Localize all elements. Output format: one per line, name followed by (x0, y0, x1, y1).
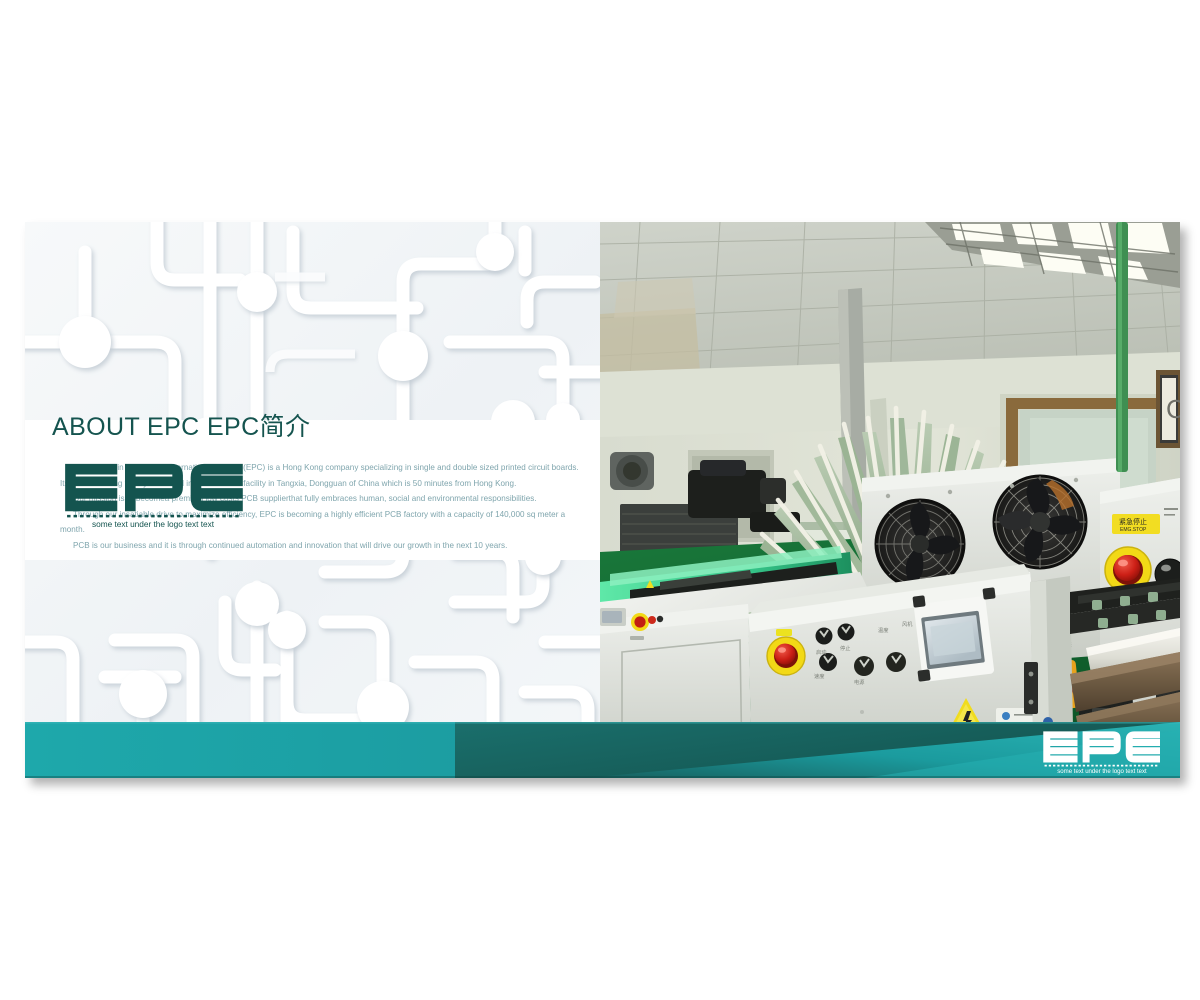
footer-gradient (25, 722, 1180, 778)
logo-footer-tagline: some text under the logo text text (1042, 768, 1162, 775)
about-paragraph-4: PCB is our business and it is through co… (60, 538, 583, 554)
logo-footer: some text under the logo text text (1042, 730, 1162, 775)
svg-text:C: C (1166, 394, 1180, 424)
epc-wordmark-icon (63, 462, 243, 518)
svg-text:启动: 启动 (816, 648, 826, 656)
factory-photo-panel: C (600, 222, 1180, 778)
page-title: ABOUT EPC EPC简介 (52, 412, 588, 442)
presentation-slide: ABOUT EPC EPC简介 Established in 2007, EPC… (25, 222, 1180, 778)
logo-primary: some text under the logo text text (63, 462, 243, 529)
logo-tagline: some text under the logo text text (63, 519, 243, 529)
svg-text:温度: 温度 (878, 626, 888, 634)
factory-photo: C (600, 222, 1180, 778)
svg-text:EMG.STOP: EMG.STOP (1120, 527, 1147, 533)
svg-text:风机: 风机 (902, 620, 913, 628)
slide-footer-bar: some text under the logo text text (25, 722, 1180, 778)
svg-text:紧急停止: 紧急停止 (1119, 517, 1147, 526)
svg-text:停止: 停止 (840, 644, 850, 652)
svg-text:电源: 电源 (854, 678, 865, 686)
svg-text:速度: 速度 (814, 672, 824, 680)
epc-wordmark-footer-icon (1042, 730, 1160, 767)
